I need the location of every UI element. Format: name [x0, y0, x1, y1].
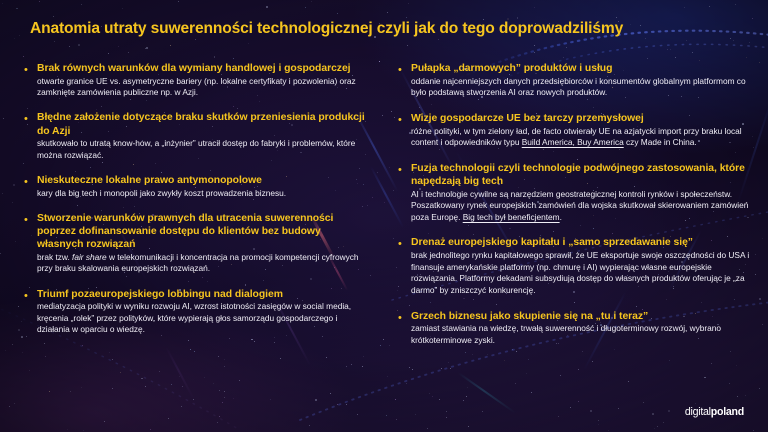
bullet-item: •Stworzenie warunków prawnych dla utrace…	[24, 212, 366, 275]
bullet-dot-icon: •	[24, 288, 37, 336]
logo-part-two: poland	[711, 406, 744, 418]
bullet-description: otwarte granice UE vs. asymetryczne bari…	[37, 76, 366, 99]
logo-part-one: digital	[685, 406, 711, 418]
bullet-heading: Grzech biznesu jako skupienie się na „tu…	[411, 310, 758, 323]
bullet-item: •Nieskuteczne lokalne prawo antymonopolo…	[24, 174, 366, 199]
bullet-description: brak tzw. fair share w telekomunikacji i…	[37, 252, 366, 275]
description-text: oddanie najcenniejszych danych przedsięb…	[411, 76, 746, 98]
right-column: •Pułapka „darmowych” produktów i usługod…	[384, 62, 768, 359]
bullet-heading: Nieskuteczne lokalne prawo antymonopolow…	[37, 174, 366, 187]
bullet-heading: Błędne założenie dotyczące braku skutków…	[37, 111, 366, 137]
bullet-dot-icon: •	[398, 236, 411, 296]
left-column: •Brak równych warunków dla wymiany handl…	[0, 62, 384, 359]
bullet-dot-icon: •	[398, 112, 411, 149]
description-text: zamiast stawiania na wiedzę, trwałą suwe…	[411, 323, 721, 345]
bullet-heading: Fuzja technologii czyli technologie podw…	[411, 162, 758, 188]
bullet-columns: •Brak równych warunków dla wymiany handl…	[0, 62, 768, 359]
bullet-dot-icon: •	[24, 174, 37, 199]
brand-logo: digitalpoland	[685, 406, 744, 418]
emphasis-underline: Big tech był beneficjentem	[463, 212, 560, 222]
bullet-item: •Brak równych warunków dla wymiany handl…	[24, 62, 366, 99]
description-text: brak tzw.	[37, 252, 72, 262]
bullet-body: Błędne założenie dotyczące braku skutków…	[37, 111, 366, 161]
emphasis-underline: Build America, Buy America	[522, 137, 624, 147]
bullet-item: •Fuzja technologii czyli technologie pod…	[398, 162, 758, 224]
description-text: skutkowało to utratą know-how, a „inżyni…	[37, 138, 355, 160]
description-text: czy Made in China.	[624, 137, 697, 147]
bullet-body: Pułapka „darmowych” produktów i usługodd…	[411, 62, 758, 99]
bullet-heading: Wizje gospodarcze UE bez tarczy przemysł…	[411, 112, 758, 125]
bullet-dot-icon: •	[24, 111, 37, 161]
bullet-body: Fuzja technologii czyli technologie podw…	[411, 162, 758, 224]
bullet-body: Drenaż europejskiego kapitału i „samo sp…	[411, 236, 758, 296]
bullet-dot-icon: •	[398, 62, 411, 99]
bullet-dot-icon: •	[24, 212, 37, 275]
bullet-description: zamiast stawiania na wiedzę, trwałą suwe…	[411, 323, 758, 346]
bullet-description: brak jednolitego rynku kapitałowego spra…	[411, 250, 758, 296]
bullet-dot-icon: •	[24, 62, 37, 99]
bullet-body: Triumf pozaeuropejskiego lobbingu nad di…	[37, 288, 366, 336]
bullet-description: mediatyzacja polityki w wyniku rozwoju A…	[37, 301, 366, 336]
bullet-dot-icon: •	[398, 310, 411, 347]
presentation-slide: Anatomia utraty suwerenności technologic…	[0, 0, 768, 432]
bullet-item: •Wizje gospodarcze UE bez tarczy przemys…	[398, 112, 758, 149]
bullet-item: •Grzech biznesu jako skupienie się na „t…	[398, 310, 758, 347]
bullet-dot-icon: •	[398, 162, 411, 224]
bullet-description: różne polityki, w tym zielony ład, de fa…	[411, 126, 758, 149]
bullet-description: kary dla big tech i monopoli jako zwykły…	[37, 188, 366, 200]
description-text: .	[560, 212, 562, 222]
bullet-item: •Triumf pozaeuropejskiego lobbingu nad d…	[24, 288, 366, 336]
description-text: otwarte granice UE vs. asymetryczne bari…	[37, 76, 356, 98]
bullet-heading: Drenaż europejskiego kapitału i „samo sp…	[411, 236, 758, 249]
bullet-item: •Pułapka „darmowych” produktów i usługod…	[398, 62, 758, 99]
bullet-body: Wizje gospodarcze UE bez tarczy przemysł…	[411, 112, 758, 149]
emphasis-italic: fair share	[72, 252, 107, 262]
bullet-description: skutkowało to utratą know-how, a „inżyni…	[37, 138, 366, 161]
description-text: brak jednolitego rynku kapitałowego spra…	[411, 250, 749, 295]
description-text: mediatyzacja polityki w wyniku rozwoju A…	[37, 301, 351, 334]
bullet-body: Nieskuteczne lokalne prawo antymonopolow…	[37, 174, 366, 199]
bullet-heading: Stworzenie warunków prawnych dla utracen…	[37, 212, 366, 252]
bullet-heading: Brak równych warunków dla wymiany handlo…	[37, 62, 366, 75]
bullet-body: Grzech biznesu jako skupienie się na „tu…	[411, 310, 758, 347]
bullet-item: •Drenaż europejskiego kapitału i „samo s…	[398, 236, 758, 296]
bullet-heading: Pułapka „darmowych” produktów i usług	[411, 62, 758, 75]
bullet-heading: Triumf pozaeuropejskiego lobbingu nad di…	[37, 288, 366, 301]
bullet-body: Brak równych warunków dla wymiany handlo…	[37, 62, 366, 99]
bullet-description: AI i technologie cywilne są narzędziem g…	[411, 189, 758, 224]
description-text: AI i technologie cywilne są narzędziem g…	[411, 189, 748, 222]
description-text: kary dla big tech i monopoli jako zwykły…	[37, 188, 286, 198]
page-title: Anatomia utraty suwerenności technologic…	[30, 20, 742, 39]
bullet-item: •Błędne założenie dotyczące braku skutkó…	[24, 111, 366, 161]
bullet-body: Stworzenie warunków prawnych dla utracen…	[37, 212, 366, 275]
bullet-description: oddanie najcenniejszych danych przedsięb…	[411, 76, 758, 99]
slide-content: Anatomia utraty suwerenności technologic…	[0, 0, 768, 432]
